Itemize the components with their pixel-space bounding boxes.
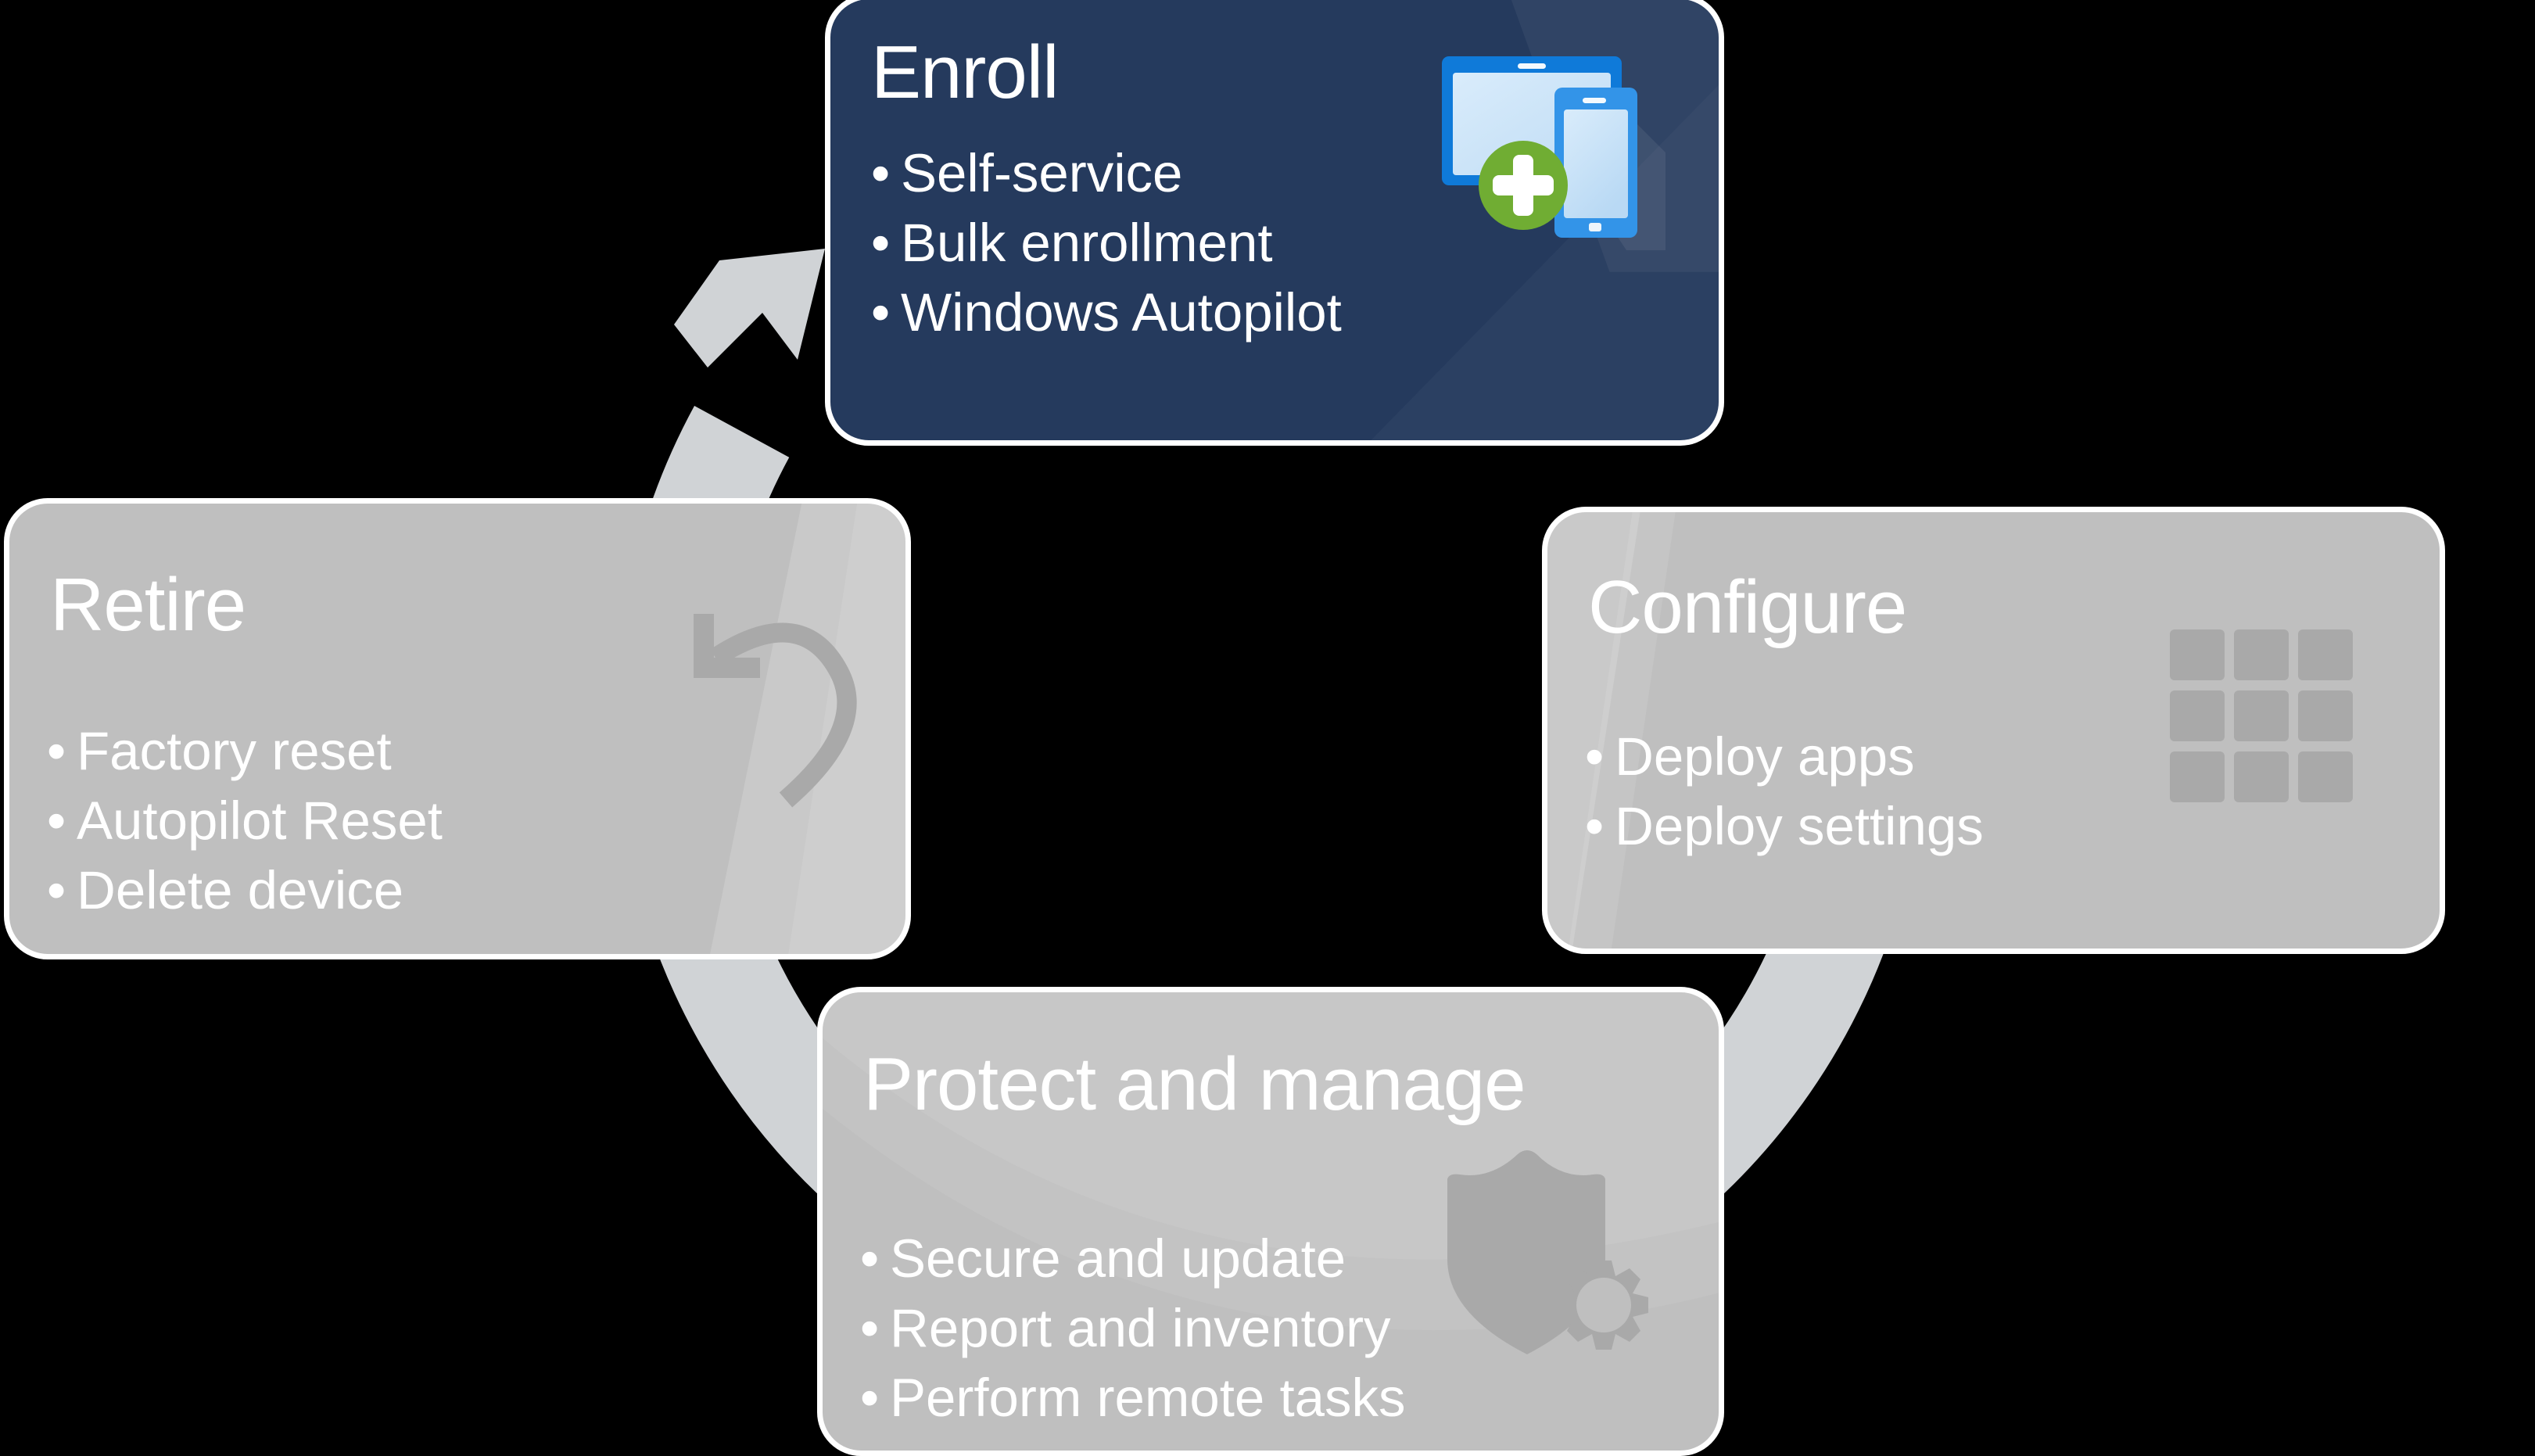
- bullet-text: Deploy settings: [1615, 796, 1984, 856]
- bullet-marker: •: [860, 1224, 890, 1293]
- card-title-retire: Retire: [50, 568, 246, 643]
- app-grid-icon: [2170, 629, 2358, 805]
- list-item: •Perform remote tasks: [860, 1363, 1406, 1433]
- card-bullets-retire: •Factory reset •Autopilot Reset •Delete …: [47, 716, 443, 925]
- list-item: •Factory reset: [47, 716, 443, 786]
- bullet-text: Self-service: [901, 143, 1182, 203]
- bullet-marker: •: [871, 138, 901, 208]
- list-item: •Autopilot Reset: [47, 786, 443, 855]
- list-item: •Deploy apps: [1585, 722, 1984, 791]
- list-item: •Self-service: [871, 138, 1342, 208]
- bullet-marker: •: [871, 208, 901, 278]
- bullet-text: Deploy apps: [1615, 726, 1915, 787]
- list-item: •Delete device: [47, 855, 443, 925]
- bullet-text: Delete device: [77, 860, 403, 920]
- bullet-marker: •: [1585, 722, 1615, 791]
- devices-add-icon: [1431, 39, 1665, 250]
- shield-gear-icon: [1443, 1126, 1677, 1357]
- bullet-text: Secure and update: [890, 1228, 1346, 1289]
- bullet-text: Report and inventory: [890, 1298, 1391, 1358]
- bullet-text: Bulk enrollment: [901, 213, 1273, 273]
- bullet-text: Autopilot Reset: [77, 791, 443, 851]
- card-title-enroll: Enroll: [871, 35, 1058, 110]
- list-item: •Bulk enrollment: [871, 208, 1342, 278]
- undo-arrow-icon: [684, 590, 911, 825]
- list-item: •Report and inventory: [860, 1293, 1406, 1363]
- bullet-text: Perform remote tasks: [890, 1368, 1406, 1428]
- bullet-marker: •: [47, 786, 77, 855]
- bullet-marker: •: [860, 1293, 890, 1363]
- bullet-marker: •: [47, 716, 77, 786]
- card-bullets-configure: •Deploy apps •Deploy settings: [1585, 722, 1984, 861]
- diagram-canvas: Enroll •Self-service •Bulk enrollment •W…: [0, 0, 2535, 1440]
- card-title-configure: Configure: [1588, 570, 1906, 645]
- list-item: •Windows Autopilot: [871, 278, 1342, 347]
- bullet-marker: •: [871, 278, 901, 347]
- card-bullets-protect: •Secure and update •Report and inventory…: [860, 1224, 1406, 1433]
- bullet-marker: •: [860, 1363, 890, 1433]
- card-bullets-enroll: •Self-service •Bulk enrollment •Windows …: [871, 138, 1342, 347]
- card-title-protect: Protect and manage: [863, 1047, 1526, 1122]
- bullet-marker: •: [1585, 791, 1615, 861]
- list-item: •Secure and update: [860, 1224, 1406, 1293]
- list-item: •Deploy settings: [1585, 791, 1984, 861]
- bullet-text: Factory reset: [77, 721, 392, 781]
- bullet-text: Windows Autopilot: [901, 282, 1342, 342]
- bullet-marker: •: [47, 855, 77, 925]
